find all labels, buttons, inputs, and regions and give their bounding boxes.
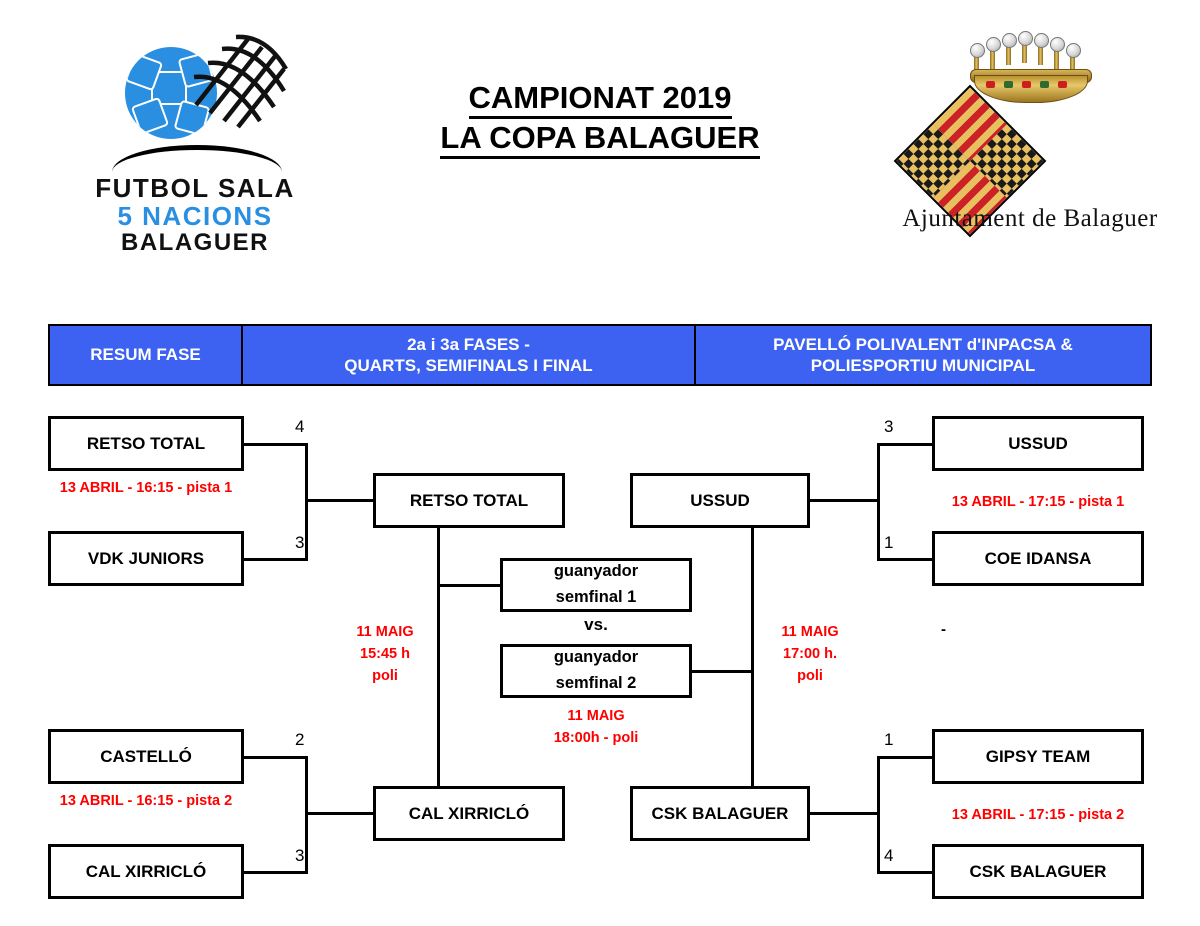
team-name: RETSO TOTAL: [410, 491, 528, 511]
match-box-semifinal-2-winner-right[interactable]: CSK BALAGUER: [630, 786, 810, 841]
final-note-l1: 11 MAIG: [500, 706, 692, 728]
seed-qf4-bottom: 4: [884, 846, 893, 866]
team-name: GIPSY TEAM: [986, 747, 1091, 767]
team-name: VDK JUNIORS: [88, 549, 204, 569]
team-name: USSUD: [690, 491, 750, 511]
tournament-bracket: RETSO TOTAL VDK JUNIORS 13 ABRIL - 16:15…: [0, 0, 1200, 926]
final-slot2-line1: guanyador: [554, 645, 638, 671]
semifinal-note-left-l3: poli: [330, 666, 440, 688]
final-slot2-line2: semfinal 2: [556, 671, 637, 697]
match-box-semifinal-1-winner[interactable]: RETSO TOTAL: [373, 473, 565, 528]
match-note-qf2: 13 ABRIL - 16:15 - pista 2: [48, 791, 244, 813]
match-box-ussud-qf[interactable]: USSUD: [932, 416, 1144, 471]
final-slot1-line2: semfinal 1: [556, 585, 637, 611]
seed-qf2-top: 2: [295, 730, 304, 750]
seed-qf4-top: 1: [884, 730, 893, 750]
match-box-castello-qf[interactable]: CASTELLÓ: [48, 729, 244, 784]
match-box-cal-xirriclo-qf[interactable]: CAL XIRRICLÓ: [48, 844, 244, 899]
match-box-vdk-juniors-qf[interactable]: VDK JUNIORS: [48, 531, 244, 586]
team-name: CSK BALAGUER: [970, 862, 1107, 882]
semifinal-note-left-l1: 11 MAIG: [330, 622, 440, 644]
final-note-l2: 18:00h - poli: [500, 728, 692, 750]
match-box-csk-balaguer-qf[interactable]: CSK BALAGUER: [932, 844, 1144, 899]
team-name: USSUD: [1008, 434, 1068, 454]
match-box-gipsy-team-qf[interactable]: GIPSY TEAM: [932, 729, 1144, 784]
seed-qf3-top: 3: [884, 417, 893, 437]
semifinal-note-right-l1: 11 MAIG: [764, 622, 856, 644]
team-name: RETSO TOTAL: [87, 434, 205, 454]
match-note-qf3: 13 ABRIL - 17:15 - pista 1: [932, 492, 1144, 514]
final-slot1-line1: guanyador: [554, 559, 638, 585]
seed-qf1-bottom: 3: [295, 533, 304, 553]
semifinal-note-right: 11 MAIG 17:00 h. poli: [764, 622, 856, 687]
semifinal-note-left-l2: 15:45 h: [330, 644, 440, 666]
final-note: 11 MAIG 18:00h - poli: [500, 706, 692, 750]
match-box-retso-total-qf[interactable]: RETSO TOTAL: [48, 416, 244, 471]
versus-label: vs.: [500, 615, 692, 635]
seed-qf2-bottom: 3: [295, 846, 304, 866]
team-name: CAL XIRRICLÓ: [86, 862, 207, 882]
team-name: CSK BALAGUER: [652, 804, 789, 824]
placeholder-dash: -: [941, 621, 946, 638]
match-note-qf4: 13 ABRIL - 17:15 - pista 2: [932, 805, 1144, 827]
team-name: CAL XIRRICLÓ: [409, 804, 530, 824]
final-slot-2[interactable]: guanyador semfinal 2: [500, 644, 692, 698]
team-name: CASTELLÓ: [100, 747, 192, 767]
final-slot-1[interactable]: guanyador semfinal 1: [500, 558, 692, 612]
match-box-semifinal-1-winner-right[interactable]: USSUD: [630, 473, 810, 528]
match-box-semifinal-2-winner-left[interactable]: CAL XIRRICLÓ: [373, 786, 565, 841]
semifinal-note-left: 11 MAIG 15:45 h poli: [330, 622, 440, 687]
semifinal-note-right-l2: 17:00 h.: [764, 644, 856, 666]
match-note-qf1: 13 ABRIL - 16:15 - pista 1: [48, 478, 244, 500]
match-box-coe-idansa-qf[interactable]: COE IDANSA: [932, 531, 1144, 586]
semifinal-note-right-l3: poli: [764, 666, 856, 688]
seed-qf1-top: 4: [295, 417, 304, 437]
seed-qf3-bottom: 1: [884, 533, 893, 553]
team-name: COE IDANSA: [985, 549, 1092, 569]
